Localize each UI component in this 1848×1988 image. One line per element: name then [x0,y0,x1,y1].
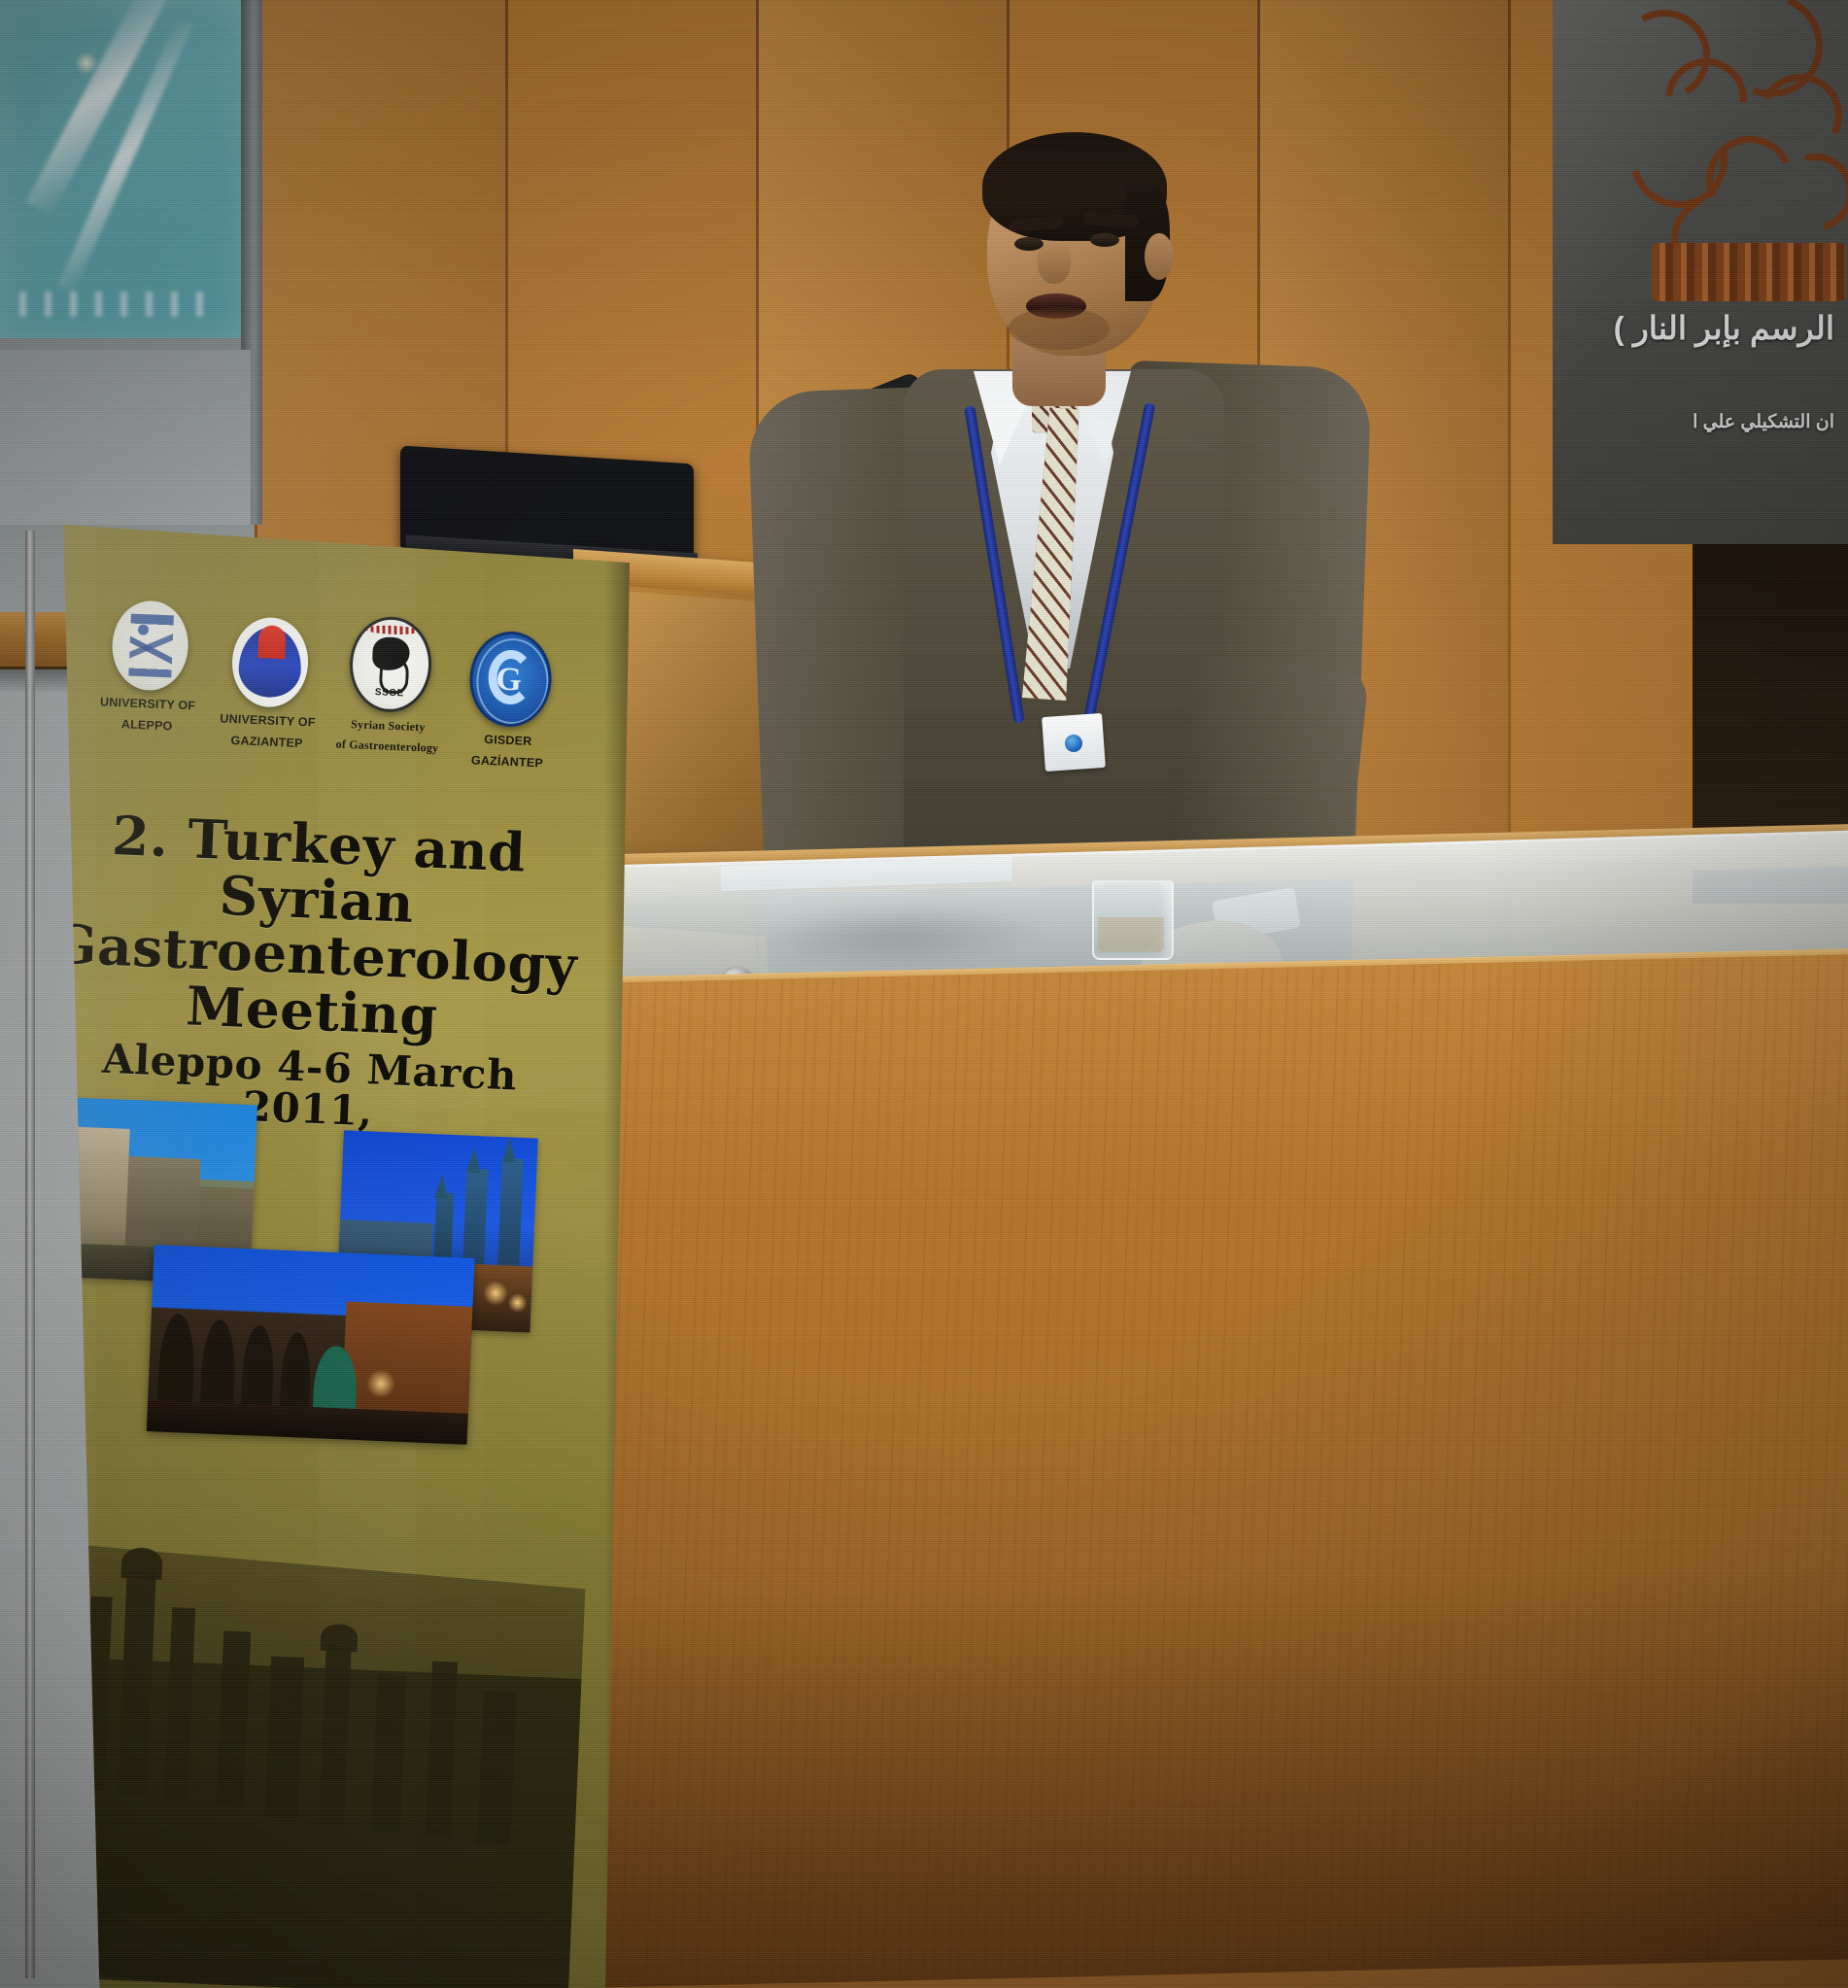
grey-wall-mid-left [0,350,251,544]
screen-hotspot [76,51,97,76]
chin-shading [1009,307,1110,350]
banner-edge-shadow [604,525,630,1988]
drinking-glass-contents [1098,917,1164,952]
ear [1145,233,1174,280]
desk-glass-etching [738,900,1049,977]
projection-screen-text [19,291,214,317]
poster-arabic-line-2: ان التشكيلي علي ا [1603,411,1834,433]
banner-gloss [27,525,630,1988]
conference-banner: UNIVERSITY OF ALEPPO UNIVERSITY OF GAZIA… [27,525,649,1988]
carved-frame-bar [1652,243,1846,301]
desk-lower-shadow [579,1564,1848,1988]
eye-right [1090,233,1119,247]
photo-scene: الرسم بإبر النار ) ان التشكيلي علي ا [0,0,1848,1988]
badge-logo-icon [1065,735,1082,752]
nose [1038,241,1071,284]
poster-arabic-line-1: الرسم بإبر النار ) [1564,309,1834,347]
